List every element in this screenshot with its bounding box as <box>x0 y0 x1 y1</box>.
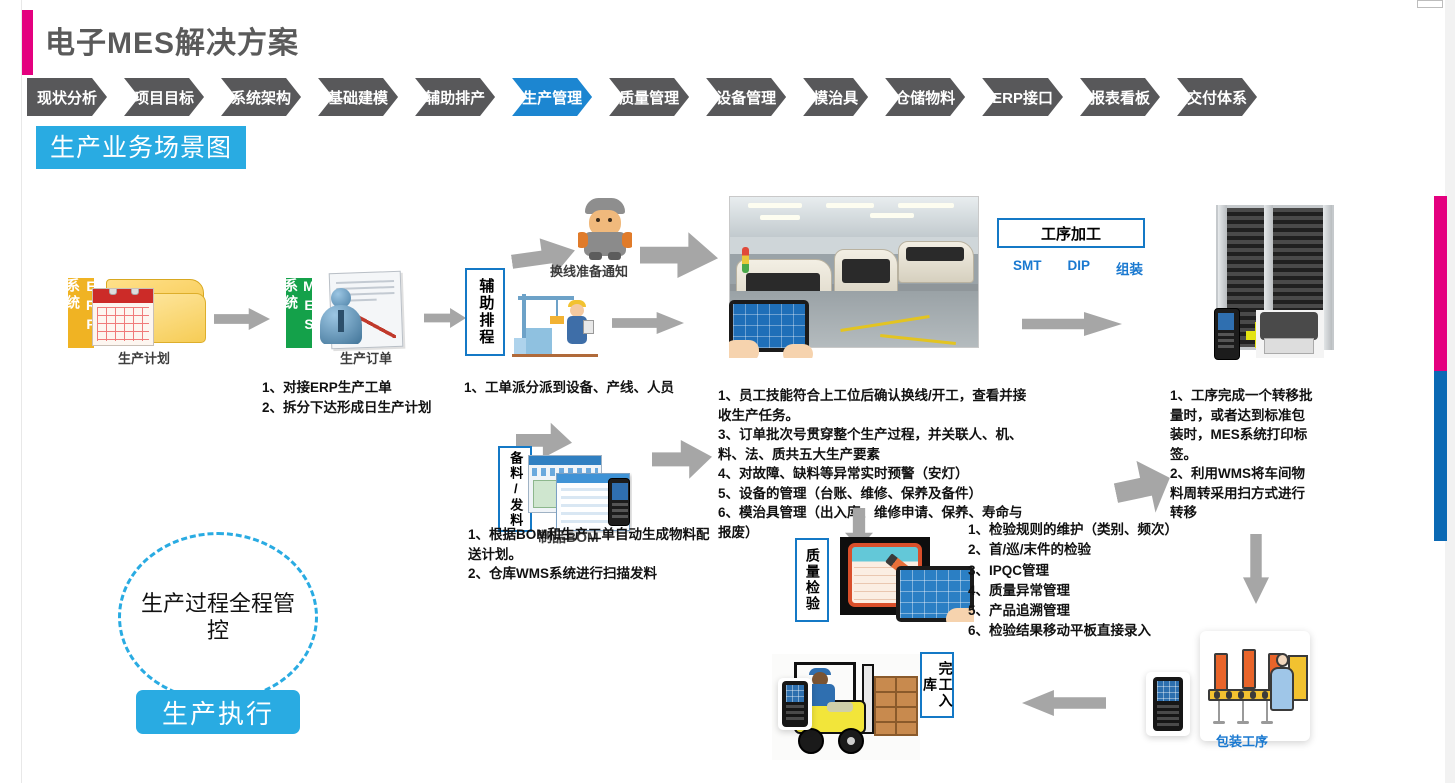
nav-label-7: 设备管理 <box>716 87 776 108</box>
production-execution-label: 生产执行 <box>162 694 274 731</box>
nav-label-1: 项目目标 <box>134 87 194 108</box>
changeover-worker-icon <box>578 198 632 260</box>
nav-item-7[interactable]: 设备管理 <box>706 78 786 116</box>
process-steps: SMT DIP 组装 <box>1013 258 1143 278</box>
planning-worker-icon <box>512 290 598 360</box>
material-box: 备料/发料 <box>498 446 532 532</box>
nav-label-5: 生产管理 <box>522 87 582 108</box>
changeover-caption: 换线准备通知 <box>550 261 628 280</box>
quality-box: 质量检验 <box>795 538 829 622</box>
tablet-overlay-icon <box>729 300 815 358</box>
mes-system-label: MES系统 <box>286 278 312 348</box>
slide-canvas: 电子MES解决方案 现状分析 项目目标 系统架构 基础建模 辅助排产 生产管理 … <box>0 0 1455 783</box>
calendar-icon <box>92 288 154 346</box>
process-box-label: 工序加工 <box>1041 223 1101 244</box>
accent-bar-left <box>22 10 33 75</box>
production-execution-pill[interactable]: 生产执行 <box>136 690 300 734</box>
packaging-caption: 包装工序 <box>1216 731 1268 750</box>
nav-label-3: 基础建模 <box>328 87 388 108</box>
rack-scanner-icon <box>1214 308 1240 360</box>
warehouse-box: 完工入库 <box>920 652 954 718</box>
nav-label-4: 辅助排产 <box>425 87 485 108</box>
chevron-nav: 现状分析 项目目标 系统架构 基础建模 辅助排产 生产管理 质量管理 设备管理 … <box>27 78 1257 116</box>
arrow-changeover-to-production <box>640 226 718 278</box>
nav-item-5[interactable]: 生产管理 <box>512 78 592 116</box>
left-rail <box>0 0 22 783</box>
scheduling-box-label: 辅助排程 <box>477 278 494 346</box>
nav-item-4[interactable]: 辅助排产 <box>415 78 495 116</box>
nav-label-8: 模治具 <box>813 87 858 108</box>
nav-label-0: 现状分析 <box>37 87 97 108</box>
arrow-packaging-to-warehouse <box>1022 690 1106 716</box>
overview-circle-text: 生产过程全程管控 <box>140 590 295 645</box>
top-notch <box>1417 0 1443 8</box>
arrow-material-to-production <box>652 440 712 484</box>
process-step-assembly: 组装 <box>1116 258 1143 278</box>
process-step-dip: DIP <box>1068 258 1091 278</box>
label-printer-icon <box>1256 310 1324 358</box>
nav-item-10[interactable]: ERP接口 <box>982 78 1063 116</box>
erp-system-label: ERP系统 <box>68 278 94 348</box>
nav-item-6[interactable]: 质量管理 <box>609 78 689 116</box>
nav-label-11: 报表看板 <box>1090 87 1150 108</box>
quality-notes: 1、检验规则的维护（类别、频次）2、首/巡/末件的检验3、IPQC管理4、质量异… <box>968 520 1218 642</box>
nav-label-10: ERP接口 <box>992 87 1053 108</box>
nav-item-0[interactable]: 现状分析 <box>27 78 107 116</box>
nav-item-9[interactable]: 仓储物料 <box>885 78 965 116</box>
warehouse-scanner-icon <box>778 678 812 730</box>
page-title: 电子MES解决方案 <box>45 18 299 62</box>
warehouse-box-label: 完工入库 <box>921 654 952 716</box>
nav-label-2: 系统架构 <box>231 87 291 108</box>
nav-item-11[interactable]: 报表看板 <box>1080 78 1160 116</box>
mes-system-text: MES系统 <box>281 278 317 348</box>
nav-item-2[interactable]: 系统架构 <box>221 78 301 116</box>
section-banner: 生产业务场景图 <box>36 126 246 169</box>
nav-label-6: 质量管理 <box>619 87 679 108</box>
nav-label-12: 交付体系 <box>1187 87 1247 108</box>
scheduling-box: 辅助排程 <box>465 268 505 356</box>
accent-bar-right-blue <box>1434 371 1447 541</box>
material-box-label: 备料/发料 <box>508 451 523 528</box>
packaging-illustration <box>1200 631 1310 741</box>
nav-label-9: 仓储物料 <box>895 87 955 108</box>
arrow-quality-to-transfer <box>1110 455 1178 527</box>
mes-notes: 1、对接ERP生产工单2、拆分下达形成日生产计划 <box>262 378 440 417</box>
handheld-scanner-icon <box>608 478 630 526</box>
overview-circle: 生产过程全程管控 <box>118 532 318 702</box>
mes-caption: 生产订单 <box>340 348 392 367</box>
arrow-production-to-transfer <box>1022 312 1122 336</box>
process-step-smt: SMT <box>1013 258 1042 278</box>
accent-bar-right-magenta <box>1434 196 1447 371</box>
quality-box-label: 质量检验 <box>804 548 820 612</box>
process-box: 工序加工 <box>997 218 1145 248</box>
nav-item-1[interactable]: 项目目标 <box>124 78 204 116</box>
arrow-erp-to-mes <box>214 308 270 330</box>
erp-caption: 生产计划 <box>118 348 170 367</box>
arrow-mes-to-scheduling <box>424 308 466 328</box>
nav-item-8[interactable]: 模治具 <box>803 78 868 116</box>
inspection-tablet-icon <box>896 566 974 622</box>
user-avatar-icon <box>318 288 364 344</box>
nav-item-3[interactable]: 基础建模 <box>318 78 398 116</box>
arrow-scheduling-to-production <box>612 312 684 334</box>
scheduling-notes: 1、工单派分派到设备、产线、人员 <box>464 378 679 398</box>
transfer-notes: 1、工序完成一个转移批量时，或者达到标准包装时，MES系统打印标签。2、利用WM… <box>1170 386 1318 523</box>
nav-item-12[interactable]: 交付体系 <box>1177 78 1257 116</box>
arrow-transfer-to-packaging <box>1243 534 1269 604</box>
material-notes: 1、根据BOM和生产工单自动生成物料配送计划。2、仓库WMS系统进行扫描发料 <box>468 525 718 584</box>
packaging-scanner-icon <box>1146 672 1190 736</box>
